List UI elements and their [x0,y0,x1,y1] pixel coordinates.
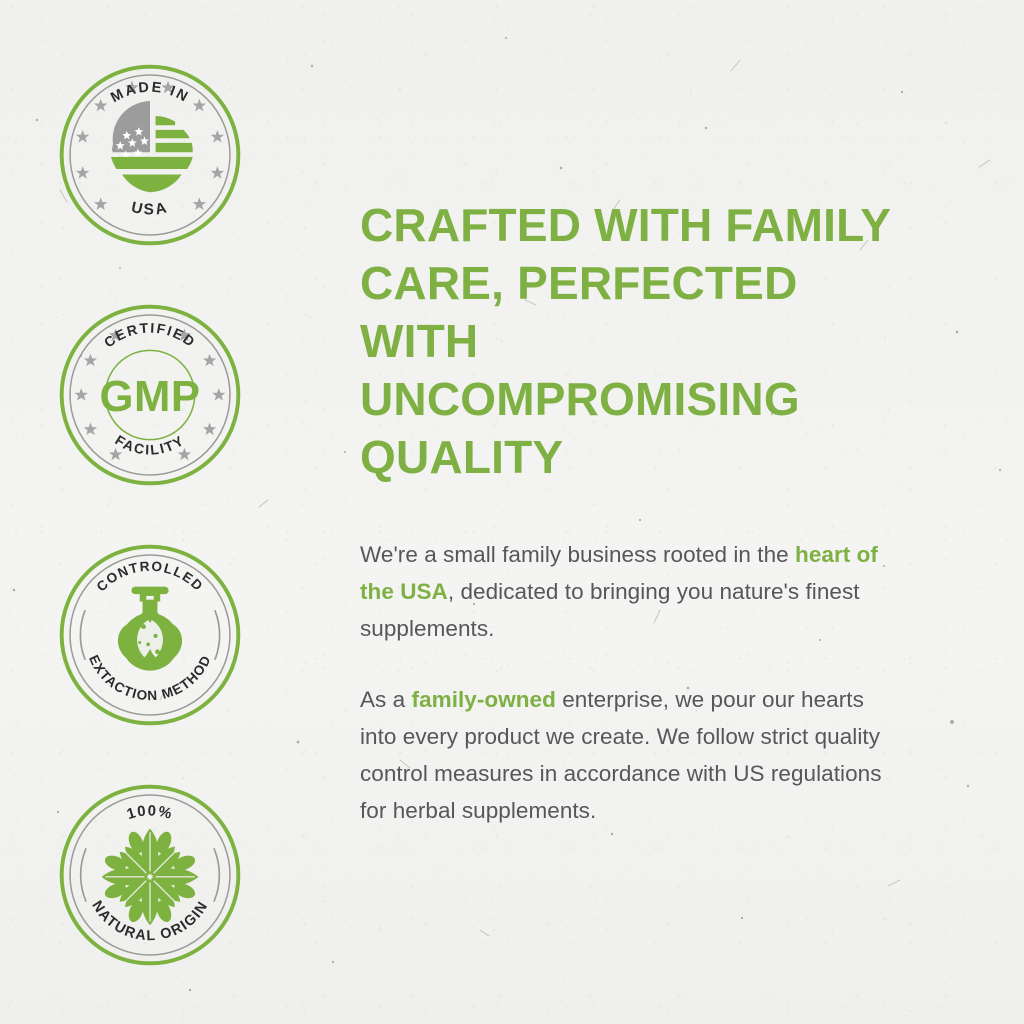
badge-natural-origin: 100% NATURAL ORIGIN [57,782,243,968]
badge-bottom-text: FACILITY [112,432,187,458]
svg-text:CERTIFIED: CERTIFIED [101,320,199,351]
marketing-copy-column: CRAFTED WITH FAMILY CARE, PERFECTED WITH… [300,0,1024,1024]
paragraph-2-part-1: As a [360,687,412,712]
badge-made-in-usa: MADE IN USA [57,62,243,248]
us-flag-circle-icon [111,101,193,192]
body-paragraph-2: As a family-owned enterprise, we pour ou… [360,681,890,829]
gmp-text-icon: GMP [100,372,201,421]
svg-text:100%: 100% [125,803,174,823]
badge-top-text: 100% [125,803,174,823]
paragraph-1-part-1: We're a small family business rooted in … [360,542,795,567]
leaf-mandala-icon [102,829,199,926]
body-paragraph-1: We're a small family business rooted in … [360,536,880,647]
badge-top-text: MADE IN [108,79,192,106]
page-title: CRAFTED WITH FAMILY CARE, PERFECTED WITH… [360,196,914,486]
svg-text:USA: USA [130,199,171,219]
badge-top-text: CERTIFIED [101,320,199,351]
badge-bottom-text: USA [130,199,171,219]
paragraph-2-highlight: family-owned [412,687,556,712]
badge-gmp-certified: GMP CERTIFIED FACILITY [57,302,243,488]
badge-controlled-extraction: CONTROLLED EXTACTION METHOD [57,542,243,728]
svg-text:FACILITY: FACILITY [112,432,187,458]
svg-text:MADE IN: MADE IN [108,79,192,106]
certification-badge-column: MADE IN USA [0,0,300,1024]
